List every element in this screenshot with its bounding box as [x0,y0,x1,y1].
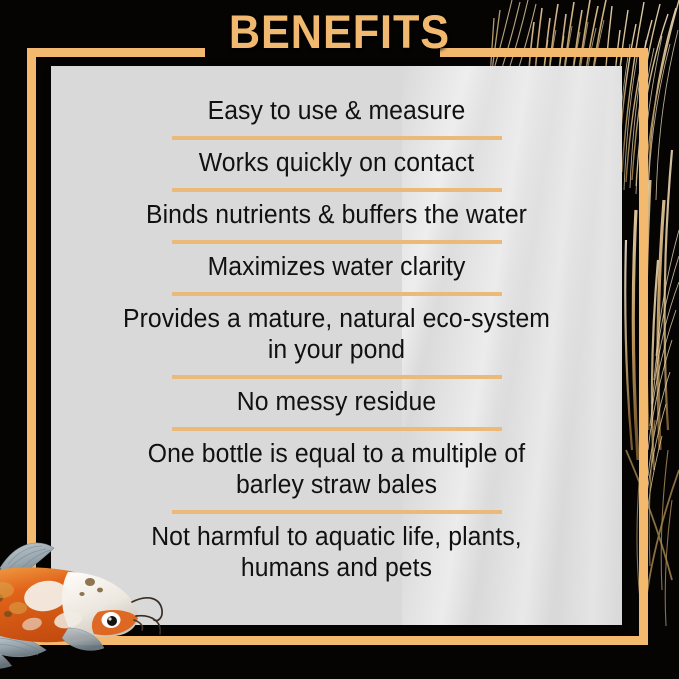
divider [172,292,502,296]
list-item: Easy to use & measure [60,96,614,127]
frame-bottom-edge [27,636,648,645]
list-item: Maximizes water clarity [60,252,614,283]
benefits-list: Easy to use & measure Works quickly on c… [51,96,622,584]
benefits-poster: BENEFITS Easy to use & measure Works qui… [0,0,679,679]
frame-right-edge [639,48,648,645]
list-item: One bottle is equal to a multiple of bar… [60,439,614,501]
frame-left-edge [27,48,36,645]
list-item: Binds nutrients & buffers the water [60,200,614,231]
benefits-panel: Easy to use & measure Works quickly on c… [51,66,622,625]
divider [172,375,502,379]
page-title: BENEFITS [27,8,652,55]
divider [172,510,502,514]
list-item: Works quickly on contact [60,148,614,179]
divider [172,240,502,244]
divider [172,136,502,140]
list-item: Not harmful to aquatic life, plants, hum… [60,522,614,584]
list-item: No messy residue [60,387,614,418]
divider [172,188,502,192]
divider [172,427,502,431]
list-item: Provides a mature, natural eco-system in… [60,304,614,366]
